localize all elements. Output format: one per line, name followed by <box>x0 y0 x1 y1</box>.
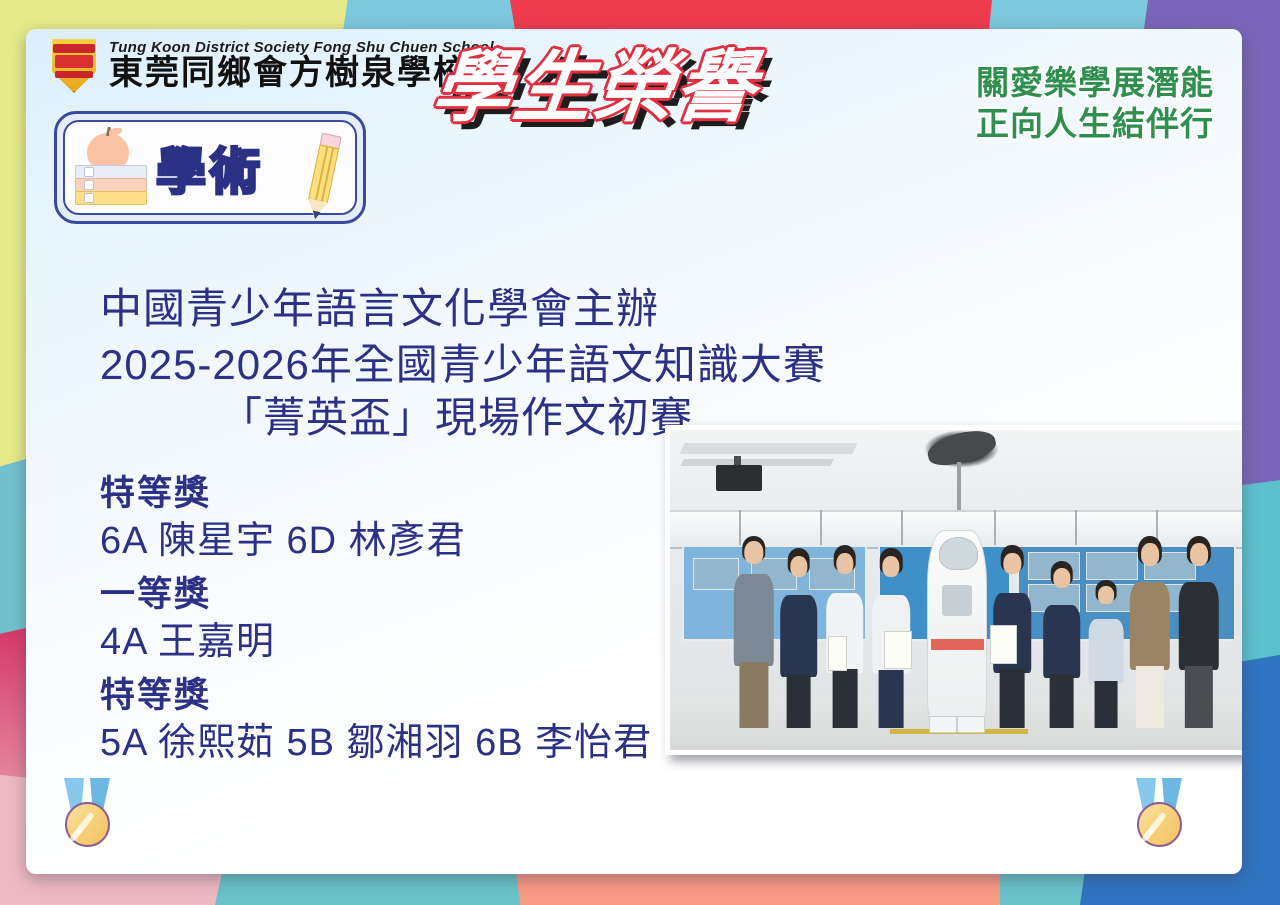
category-badge-label: 學術 <box>156 132 264 204</box>
award-level-label: 特等獎 <box>100 674 670 718</box>
gold-medal-icon: ✦ <box>56 778 118 856</box>
group-photo <box>665 425 1242 755</box>
school-identity: Tung Koon District Society Fong Shu Chue… <box>48 37 494 93</box>
school-motto-line-1: 關愛樂學展潛能 <box>976 63 1214 104</box>
award-level-label: 一等獎 <box>100 573 670 617</box>
event-heading: 中國青少年語言文化學會主辦 2025-2026年全國青少年語文知識大賽 「菁英盃… <box>100 281 826 445</box>
photo-person-student <box>994 545 1032 727</box>
page-title: 學生榮譽 <box>427 29 765 137</box>
student-honour-poster: Tung Koon District Society Fong Shu Chue… <box>0 0 1280 905</box>
photo-person-adult <box>1130 536 1170 728</box>
school-crest-shield-icon <box>48 37 100 93</box>
award-recipients: 6A 陳星宇 6D 林彥君 <box>100 516 670 567</box>
apple-and-books-icon <box>75 127 149 205</box>
award-level-label: 特等獎 <box>100 472 670 516</box>
photo-person-adult <box>1179 536 1219 728</box>
photo-person-student <box>1089 580 1124 727</box>
event-organizer: 中國青少年語言文化學會主辦 <box>100 281 826 338</box>
award-group: 特等獎 5A 徐熙茹 5B 鄒湘羽 6B 李怡君 <box>100 674 670 769</box>
award-group: 特等獎 6A 陳星宇 6D 林彥君 <box>100 472 670 567</box>
school-name-english: Tung Koon District Society Fong Shu Chue… <box>109 40 494 55</box>
category-badge-academic: 學術 <box>54 111 366 224</box>
gold-medal-icon: ✦ <box>1128 778 1190 856</box>
school-motto: 關愛樂學展潛能 正向人生結伴行 <box>976 63 1214 145</box>
event-competition-name: 2025-2026年全國青少年語文知識大賽 <box>100 338 826 392</box>
ceiling-projector <box>716 465 762 491</box>
pencil-icon <box>300 132 347 222</box>
school-motto-line-2: 正向人生結伴行 <box>976 104 1214 145</box>
photo-person-student <box>1043 561 1081 727</box>
photo-person-student <box>780 548 818 727</box>
photo-person-student <box>872 548 910 727</box>
award-recipients: 5A 徐熙茹 5B 鄒湘羽 6B 李怡君 <box>100 718 670 769</box>
photo-person-student <box>826 545 864 727</box>
award-group: 一等獎 4A 王嘉明 <box>100 573 670 668</box>
photo-spacesuit-mannequin <box>927 530 987 724</box>
poster-card: Tung Koon District Society Fong Shu Chue… <box>26 29 1242 874</box>
group-photo-image <box>670 430 1242 750</box>
award-list: 特等獎 6A 陳星宇 6D 林彥君 一等獎 4A 王嘉明 特等獎 5A 徐熙茹 … <box>100 472 670 775</box>
photo-person-teacher <box>734 536 774 728</box>
award-recipients: 4A 王嘉明 <box>100 617 670 668</box>
